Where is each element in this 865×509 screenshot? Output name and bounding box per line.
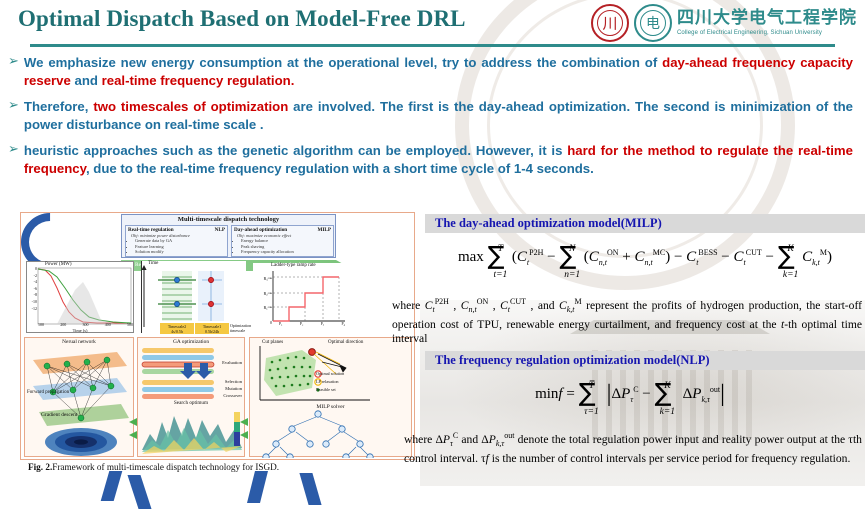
day-ahead-where-text: where CtP2H , Cn,tON , CtCUT , and Ck,tM… — [392, 295, 862, 347]
figure-caption: Fig. 2.Framework of multi-timescale disp… — [28, 462, 418, 472]
university-seal-icon: 川 — [591, 4, 629, 42]
link-arrow-4-icon — [240, 431, 248, 439]
timescale1-band: Timescale1 0.5h/24h — [195, 323, 229, 334]
ramp-x-tick: P₂ — [300, 322, 303, 326]
timescale2-value: 4s/0.5h — [171, 329, 183, 334]
seal-teal-glyph: 电 — [646, 13, 660, 33]
ramp-y-tick: R₁ᶜᵒⁿˢ — [254, 301, 272, 316]
frequency-model-banner: The frequency regulation optimization mo… — [425, 351, 865, 370]
power-chart-x-label: Time (s) — [27, 328, 133, 333]
slide-header: Optimal Dispatch Based on Model-Free DRL… — [0, 0, 865, 52]
highlight-run: two timescales of optimization — [93, 99, 288, 114]
figure-caption-number: Fig. 2. — [28, 462, 52, 472]
power-chart-x-ticks: 100200300400500 — [38, 322, 133, 327]
power-x-tick: 500 — [127, 322, 133, 327]
dayahead-item-list: Energy balancePeak shavingFrequency capa… — [232, 238, 333, 255]
uplink-arrow-1-icon — [101, 471, 123, 501]
ramp-x-tick: P₄ — [342, 322, 345, 326]
plain-run: , due to the real-time frequency regulat… — [86, 161, 594, 176]
ramp-y-tick: R₃ᶜᵒⁿˢ — [254, 272, 272, 287]
gradient-descent-label: Gradient descent — [41, 412, 77, 418]
milp-canvas — [250, 338, 413, 458]
figure-caption-text: Framework of multi-timescale dispatch te… — [52, 462, 279, 472]
power-x-tick: 100 — [38, 322, 44, 327]
milp-solver-label: MILP solver — [250, 404, 411, 410]
link-arrow-3-icon — [240, 418, 248, 426]
ga-canvas — [138, 338, 246, 458]
highlight-run: real-time frequency regulation. — [102, 73, 295, 88]
link-arrow-1-icon — [129, 418, 137, 426]
frequency-equation: minf = ∑T̅τ=1 |ΔPτC − ∑Kk=1 ΔPk,τout| — [430, 375, 830, 405]
ga-step-evaluation: Evaluation — [222, 360, 242, 365]
dayahead-list-item: Frequency capacity allocation — [241, 249, 333, 255]
page-title: Optimal Dispatch Based on Model-Free DRL — [18, 6, 466, 32]
logo-text: 四川大学电气工程学院 College of Electrical Enginee… — [677, 10, 857, 36]
realtime-tag: NLP — [215, 227, 225, 233]
college-seal-icon: 电 — [634, 4, 672, 42]
ga-step-mutation: Mutation — [225, 386, 242, 391]
bullet-text-1: We emphasize new energy consumption at t… — [24, 54, 853, 89]
dayahead-optimization-box: Day-ahead optimization MILP Obj: maximiz… — [231, 225, 334, 257]
ramp-chart-y-ticks: R₃ᶜᵒⁿˢR₂ᶜᵒⁿˢR₁ᶜᵒⁿˢ0 — [254, 272, 272, 330]
legend-lp-relaxation: LP relaxation — [316, 379, 339, 384]
plain-run: and — [71, 73, 102, 88]
university-logo: 川 电 四川大学电气工程学院 College of Electrical Eng… — [591, 3, 857, 43]
ramp-chart-x-ticks: P₁P₂P₃P₄ — [279, 322, 345, 326]
logo-english-name: College of Electrical Engineering, Sichu… — [677, 30, 857, 36]
realtime-list-item: Solution modify — [135, 249, 227, 255]
framework-figure: Multi-timescale dispatch technology Real… — [20, 212, 415, 460]
ga-optimization-panel: GA optimization Evaluation — [137, 337, 245, 457]
uplink-arrow-2-icon — [127, 475, 151, 509]
plain-run: Therefore, — [24, 99, 93, 114]
realtime-heading-row: Real-time regulation NLP — [126, 226, 227, 233]
link-arrow-2-icon — [129, 431, 137, 439]
legend-optimal-solution: Optimal solution — [316, 371, 344, 376]
timescale1-value: 0.5h/24h — [205, 329, 219, 334]
bullet-marker-icon: ➢ — [8, 98, 19, 114]
milp-solver-panel: Cut planes Optimal direction — [249, 337, 412, 457]
list-item: ➢ heuristic approaches such as the genet… — [8, 142, 853, 177]
strategy-box-title: Multi-timescale dispatch technology — [122, 216, 335, 223]
forward-propagation-label: Forward propagation — [27, 390, 69, 396]
bullet-marker-icon: ➢ — [8, 54, 19, 70]
power-x-tick: 200 — [60, 322, 66, 327]
neural-network-panel: Nerual network — [24, 337, 134, 457]
bullet-text-3: heuristic approaches such as the genetic… — [24, 142, 853, 177]
opt-ts-line2: timescale — [230, 328, 245, 333]
optimization-timescale-label: Optimization timescale — [230, 323, 251, 333]
bullet-list: ➢ We emphasize new energy consumption at… — [8, 54, 853, 186]
power-x-tick: 300 — [83, 322, 89, 327]
header-divider — [30, 44, 835, 47]
bullet-text-2: Therefore, two timescales of optimizatio… — [24, 98, 853, 133]
power-curve-chart: Power (MW) 0-2-4-6-8-10-12 1002003004005… — [26, 261, 134, 333]
timescale-diagram: Time Timescale2 4s/0.5h — [141, 261, 246, 333]
list-item: ➢ Therefore, two timescales of optimizat… — [8, 98, 853, 133]
realtime-item-list: Generate data by GAFeature learningSolut… — [126, 238, 227, 255]
power-x-tick: 400 — [105, 322, 111, 327]
logo-chinese-name: 四川大学电气工程学院 — [677, 10, 857, 27]
plain-run: heuristic approaches such as the genetic… — [24, 143, 567, 158]
frequency-where-text: where ΔPτC and ΔPk,τout denote the total… — [404, 429, 862, 466]
ramp-x-tick: P₃ — [321, 322, 324, 326]
ramp-x-tick: P₁ — [279, 322, 282, 326]
dayahead-tag: MILP — [317, 227, 331, 233]
neural-network-canvas — [25, 338, 135, 458]
list-item: ➢ We emphasize new energy consumption at… — [8, 54, 853, 89]
ramp-y-tick: R₂ᶜᵒⁿˢ — [254, 287, 272, 302]
plain-run: We emphasize new energy consumption at t… — [24, 55, 662, 70]
timescale2-band: Timescale2 4s/0.5h — [160, 323, 194, 334]
ga-step-crossover: Crossover — [223, 393, 242, 398]
ramp-rate-chart: Ladder-type ramp rate R₃ᶜᵒⁿˢR₂ᶜᵒⁿˢR₁ᶜᵒⁿˢ… — [253, 263, 349, 333]
uplink-arrow-3-icon — [247, 471, 268, 503]
strategy-box: Multi-timescale dispatch technology Real… — [121, 214, 336, 258]
ga-search-optimum-label: Search optimum — [138, 400, 244, 406]
ramp-y-tick: 0 — [254, 316, 272, 331]
realtime-regulation-box: Real-time regulation NLP Obj: minimize p… — [125, 225, 228, 257]
day-ahead-model-banner: The day-ahead optimization model(MILP) — [425, 214, 865, 233]
dayahead-heading-row: Day-ahead optimization MILP — [232, 226, 333, 233]
bullet-marker-icon: ➢ — [8, 142, 19, 158]
legend-feasible-set: Feasible set — [316, 387, 336, 392]
ga-step-selection: Selection — [225, 379, 242, 384]
day-ahead-equation: max ∑Tt=1 (CtP2H − ∑Nn=1 (Cn,tON + Cn,tM… — [430, 238, 860, 267]
seal-red-glyph: 川 — [602, 13, 617, 34]
uplink-arrow-4-icon — [299, 473, 321, 505]
